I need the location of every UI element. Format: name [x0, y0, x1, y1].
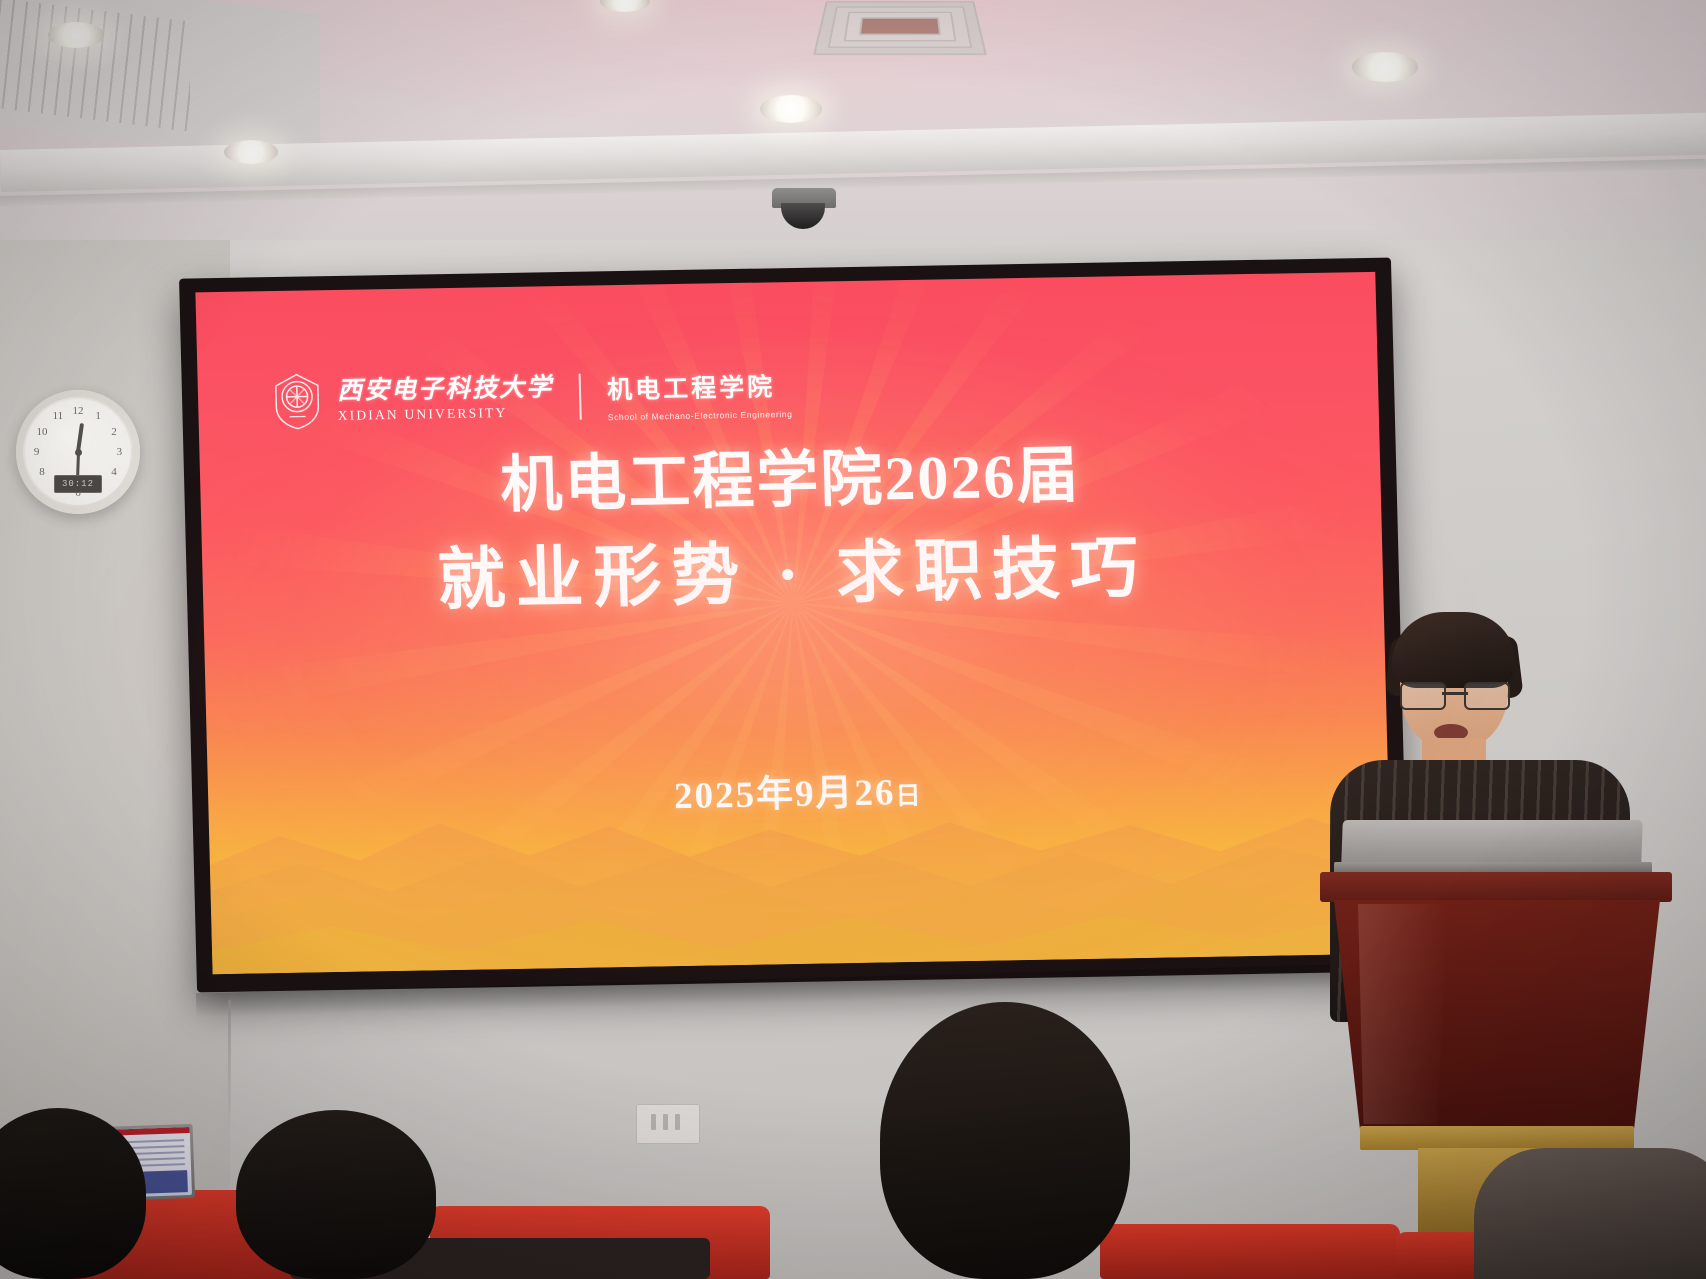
- clock-numeral: 11: [53, 410, 64, 422]
- air-vent-icon: [813, 1, 987, 55]
- clock-numeral: 10: [36, 426, 47, 438]
- audience-foreground: [0, 980, 1706, 1279]
- clock-center-cap: [75, 449, 82, 456]
- clock-numeral: 8: [39, 466, 45, 478]
- chair-row-3: [1100, 1224, 1400, 1279]
- soffit-slats: [0, 0, 190, 132]
- slide-logo-lockup: 西安电子科技大学 XIDIAN UNIVERSITY 机电工程学院 School…: [271, 364, 793, 431]
- logo-school-name-en: School of Mechano-Electronic Engineering: [608, 409, 793, 422]
- audience-member-center: [880, 1002, 1130, 1279]
- slide-mountain-illustration: [206, 696, 1392, 975]
- wall-clock: 12 1 2 3 4 5 6 7 8 9 10 11 30:12: [16, 390, 140, 514]
- glasses-icon: [1400, 682, 1510, 706]
- podium-laptop: [1341, 820, 1643, 866]
- clock-numeral: 3: [117, 446, 123, 458]
- clock-lcd-display: 30:12: [54, 475, 102, 493]
- logo-university-name-en: XIDIAN UNIVERSITY: [338, 406, 508, 422]
- clock-numeral: 1: [95, 410, 101, 422]
- projected-slide: 西安电子科技大学 XIDIAN UNIVERSITY 机电工程学院 School…: [195, 272, 1392, 974]
- slide-headline: 机电工程学院2026届 就业形势 · 求职技巧: [200, 439, 1384, 628]
- clock-numeral: 9: [34, 446, 40, 458]
- presenter-hair: [1392, 612, 1516, 688]
- xidian-university-crest-icon: [271, 372, 324, 431]
- clock-numeral: 4: [111, 466, 117, 478]
- ceiling-downlight: [760, 95, 822, 123]
- ceiling-downlight: [224, 140, 278, 164]
- ceiling-downlight: [48, 22, 104, 48]
- clock-hour-hand: [76, 423, 84, 452]
- ceiling-downlight: [1352, 52, 1418, 82]
- clock-numeral: 12: [73, 405, 84, 417]
- lectern-top: [1320, 872, 1672, 902]
- dome-security-camera-icon: [772, 188, 836, 230]
- clock-face: 12 1 2 3 4 5 6 7 8 9 10 11 30:12: [25, 399, 131, 505]
- clock-numeral: 2: [111, 426, 117, 438]
- logo-school-name-cn: 机电工程学院: [607, 367, 776, 406]
- projection-screen-frame: 西安电子科技大学 XIDIAN UNIVERSITY 机电工程学院 School…: [179, 258, 1409, 993]
- logo-university-name-cn: 西安电子科技大学: [337, 375, 554, 404]
- audience-member-right: [1474, 1148, 1706, 1279]
- slide-date-main: 2025年9月26: [674, 772, 897, 817]
- slide-date-suffix: 日: [895, 783, 923, 810]
- lecture-hall-scene: 12 1 2 3 4 5 6 7 8 9 10 11 30:12: [0, 0, 1706, 1279]
- logo-divider: [579, 374, 582, 420]
- audience-member-left: [236, 1110, 436, 1279]
